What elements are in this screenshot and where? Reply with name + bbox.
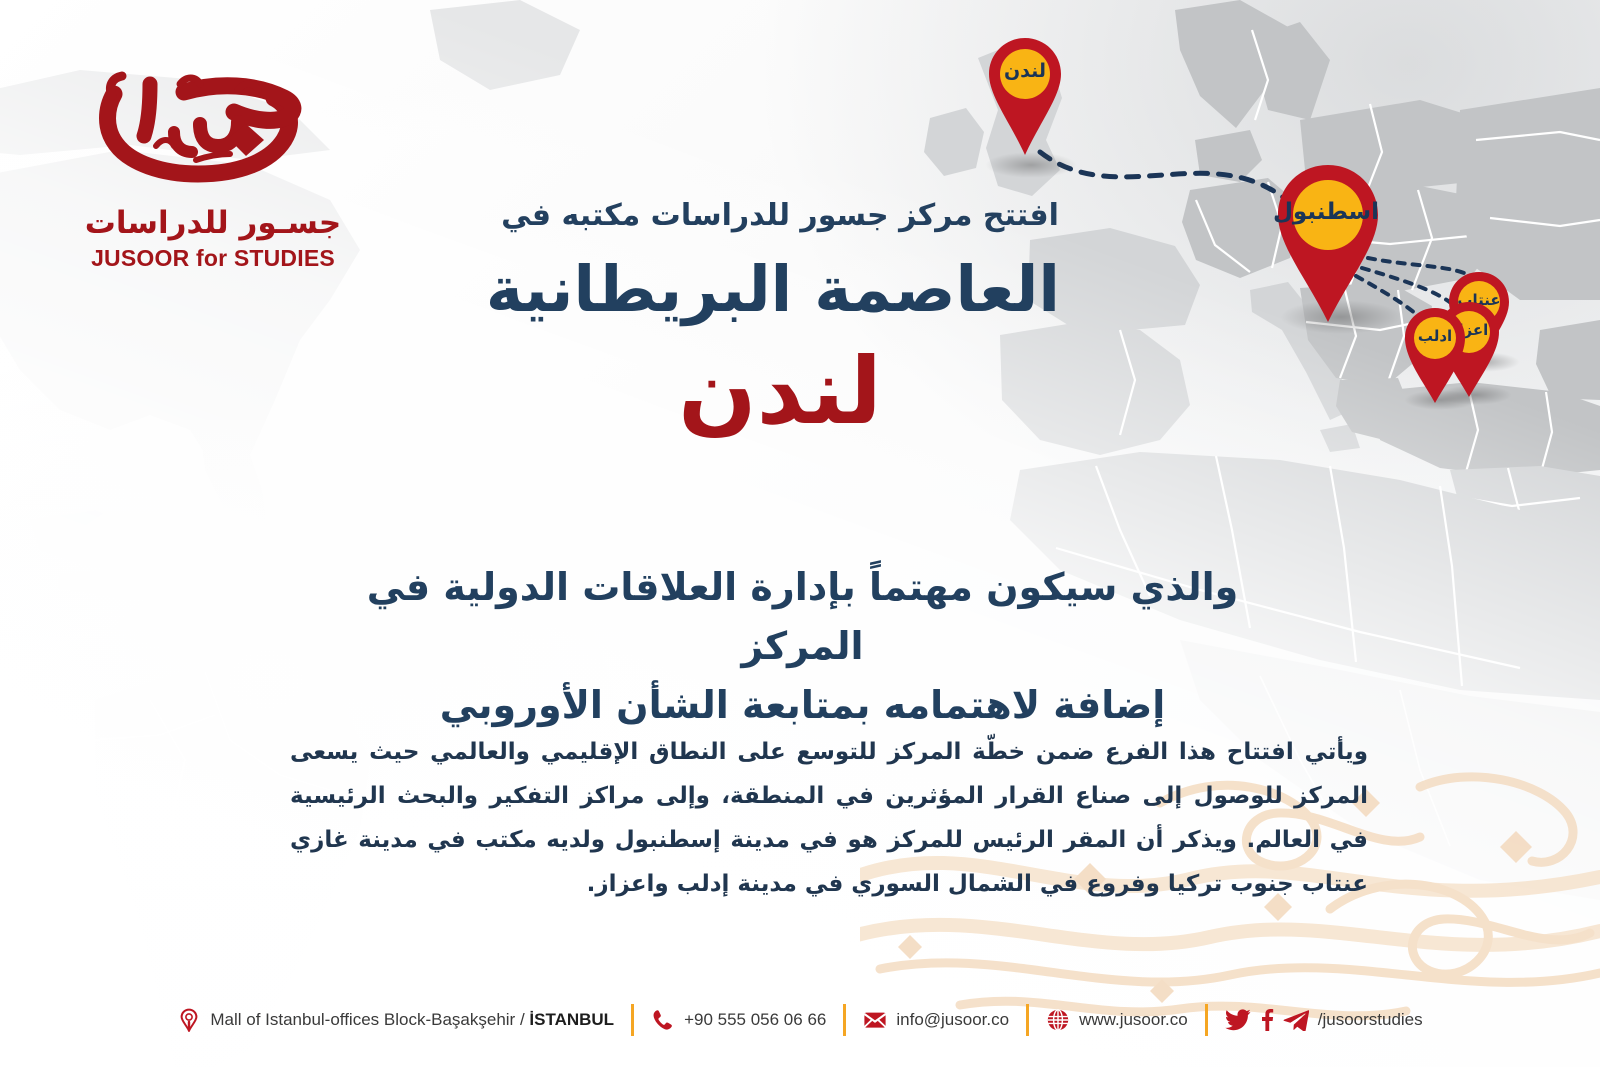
envelope-icon (863, 1008, 887, 1032)
logo-english-name: JUSOOR for STUDIES (78, 245, 348, 272)
footer-phone-text: +90 555 056 06 66 (684, 1010, 826, 1030)
footer-social[interactable]: /jusoorstudies (1208, 1009, 1440, 1031)
brand-logo[interactable]: جسـور للدراسات JUSOOR for STUDIES (78, 62, 348, 272)
location-pin-icon (177, 1008, 201, 1032)
footer-contact-bar: Mall of Istanbul-offices Block-Başakşehi… (0, 997, 1600, 1043)
poster-canvas: لندن اسطنبول عنتاب اعزاز ادلب (0, 0, 1600, 1067)
headline-block: افتتح مركز جسور للدراسات مكتبه في العاصم… (500, 196, 1060, 445)
telegram-icon[interactable] (1283, 1009, 1309, 1031)
footer-address-text: Mall of Istanbul-offices Block-Başakşehi… (210, 1010, 614, 1030)
footer-address[interactable]: Mall of Istanbul-offices Block-Başakşehi… (160, 1008, 631, 1032)
footer-social-handle: /jusoorstudies (1318, 1010, 1423, 1030)
globe-icon (1046, 1008, 1070, 1032)
phone-icon (651, 1008, 675, 1032)
facebook-icon[interactable] (1260, 1009, 1274, 1031)
footer-phone[interactable]: +90 555 056 06 66 (634, 1008, 843, 1032)
subheadline-block: والذي سيكون مهتماً بإدارة العلاقات الدول… (315, 558, 1290, 735)
headline-main: العاصمة البريطانية (500, 251, 1060, 330)
footer-email[interactable]: info@jusoor.co (846, 1008, 1026, 1032)
body-paragraph: ويأتي افتتاح هذا الفرع ضمن خطّة المركز ل… (290, 730, 1368, 907)
subheadline-line-2: إضافة لاهتمامه بمتابعة الشأن الأوروبي (315, 676, 1290, 735)
route-london-istanbul (1040, 152, 1300, 212)
footer-website[interactable]: www.jusoor.co (1029, 1008, 1205, 1032)
map-pin-london[interactable]: لندن (988, 38, 1062, 158)
map-pin-istanbul[interactable]: اسطنبول (1277, 165, 1379, 325)
social-icon-group (1225, 1009, 1309, 1031)
logo-arabic-name: جسـور للدراسات (78, 206, 348, 240)
twitter-icon[interactable] (1225, 1009, 1251, 1031)
subheadline-line-1: والذي سيكون مهتماً بإدارة العلاقات الدول… (315, 558, 1290, 676)
footer-email-text: info@jusoor.co (896, 1010, 1009, 1030)
headline-city: لندن (500, 339, 1060, 445)
map-pin-idlib[interactable]: ادلب (1404, 308, 1466, 404)
jusoor-logo-mark (88, 62, 338, 202)
headline-kicker: افتتح مركز جسور للدراسات مكتبه في (500, 196, 1060, 237)
footer-website-text: www.jusoor.co (1079, 1010, 1188, 1030)
